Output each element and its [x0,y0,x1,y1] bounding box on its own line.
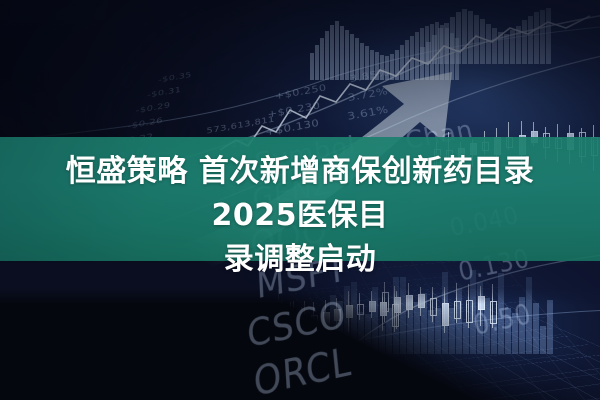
headline-line-1: 恒盛策略 首次新增商保创新药目录 2025医保目 [0,150,600,238]
banner-image: +$0.2503.85%+$0.2303.72%+$0.1303.61%-$0.… [0,0,600,400]
ticker-symbol-label: 0.50 [471,300,535,343]
headline: 恒盛策略 首次新增商保创新药目录 2025医保目 录调整启动 [0,150,600,282]
headline-line-2: 录调整启动 [0,238,600,282]
